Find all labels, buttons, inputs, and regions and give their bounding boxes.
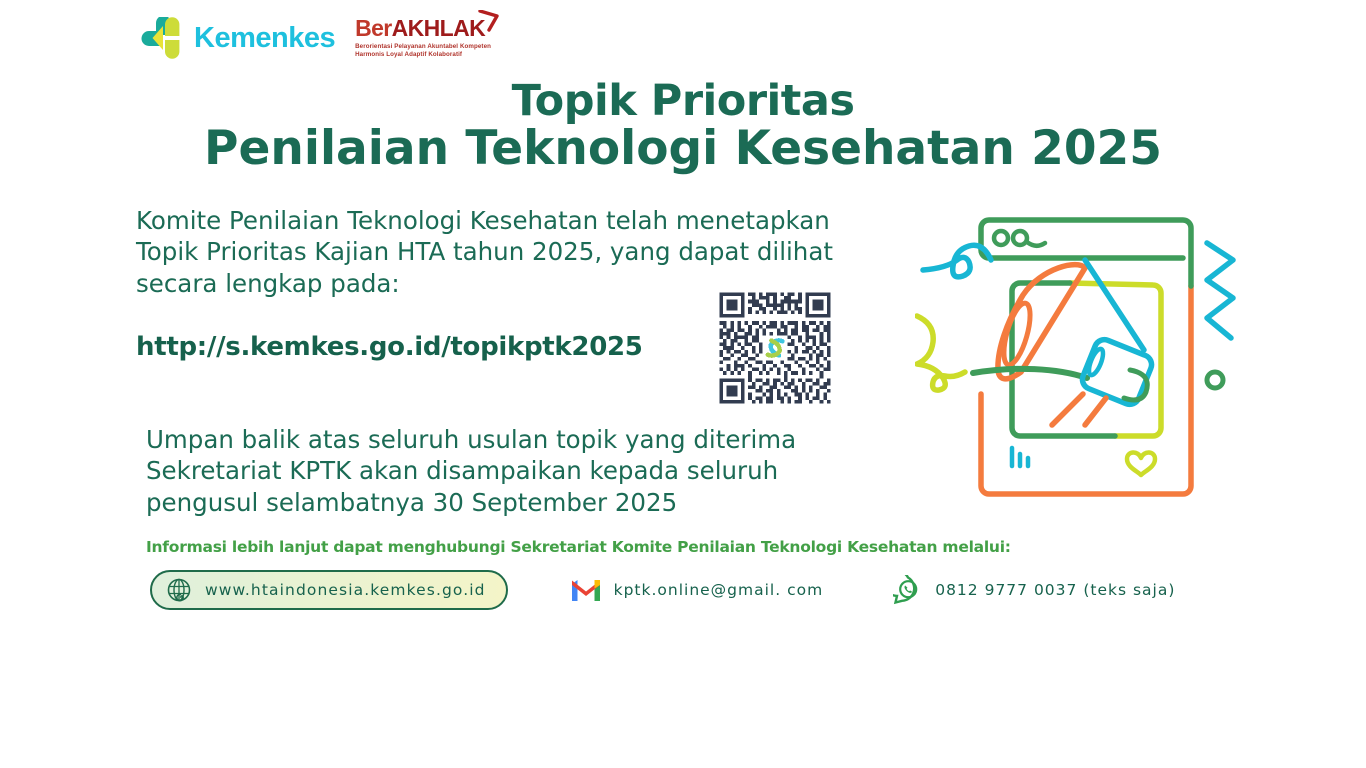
berakhlak-ber-text: Ber xyxy=(355,15,392,41)
email-address-text: kptk.online@gmail. com xyxy=(614,581,824,599)
globe-icon xyxy=(166,577,192,603)
feedback-paragraph: Umpan balik atas seluruh usulan topik ya… xyxy=(146,424,906,518)
page-title-line-2: Penilaian Teknologi Kesehatan 2025 xyxy=(0,124,1366,175)
whatsapp-icon xyxy=(893,575,923,605)
berakhlak-tagline-line1: Berorientasi Pelayanan Akuntabel Kompete… xyxy=(355,43,491,51)
website-url-text: www.htaindonesia.kemkes.go.id xyxy=(205,581,486,599)
page-title: Topik Prioritas Penilaian Teknologi Kese… xyxy=(0,78,1366,175)
berakhlak-wordmark: BerAKHLAK xyxy=(355,17,491,40)
berakhlak-tagline-line2: Harmonis Loyal Adaptif Kolaboratif xyxy=(355,51,491,59)
contact-row: www.htaindonesia.kemkes.go.id kptk.onlin… xyxy=(150,570,1175,610)
website-contact-pill[interactable]: www.htaindonesia.kemkes.go.id xyxy=(150,570,508,610)
megaphone-announcement-illustration xyxy=(915,198,1245,520)
berakhlak-akhlak-text: AKHLAK xyxy=(392,15,486,41)
poster-canvas: { "brand": { "kemenkes_word": "Kemenkes"… xyxy=(0,0,1366,768)
email-contact[interactable]: kptk.online@gmail. com xyxy=(570,577,824,603)
megaphone-illustration-svg xyxy=(915,198,1245,520)
berakhlak-tagline: Berorientasi Pelayanan Akuntabel Kompete… xyxy=(355,43,491,59)
intro-paragraph-line-2: Topik Prioritas Kajian HTA tahun 2025, y… xyxy=(136,236,908,267)
swoosh-icon xyxy=(478,10,500,32)
kemenkes-wordmark: Kemenkes xyxy=(194,24,335,53)
gmail-icon xyxy=(570,577,602,603)
page-title-line-1: Topik Prioritas xyxy=(0,78,1366,124)
feedback-paragraph-line-3: pengusul selambatnya 30 September 2025 xyxy=(146,487,906,518)
contact-intro-text: Informasi lebih lanjut dapat menghubungi… xyxy=(146,538,1011,556)
intro-paragraph: Komite Penilaian Teknologi Kesehatan tel… xyxy=(136,205,908,299)
kemenkes-flower-mark xyxy=(140,17,186,59)
qr-code-image[interactable] xyxy=(711,289,839,407)
brand-logo-bar: Kemenkes BerAKHLAK Berorientasi Pelayana… xyxy=(140,12,491,64)
feedback-paragraph-line-1: Umpan balik atas seluruh usulan topik ya… xyxy=(146,424,906,455)
whatsapp-contact[interactable]: 0812 9777 0037 (teks saja) xyxy=(893,575,1175,605)
feedback-paragraph-line-2: Sekretariat KPTK akan disampaikan kepada… xyxy=(146,455,906,486)
phone-number-text: 0812 9777 0037 (teks saja) xyxy=(935,581,1175,599)
topic-list-url-link[interactable]: http://s.kemkes.go.id/topikptk2025 xyxy=(136,332,643,362)
kemenkes-logo: Kemenkes xyxy=(140,17,335,59)
berakhlak-logo: BerAKHLAK Berorientasi Pelayanan Akuntab… xyxy=(351,17,491,59)
intro-paragraph-line-1: Komite Penilaian Teknologi Kesehatan tel… xyxy=(136,205,908,236)
qr-code-block[interactable] xyxy=(711,289,839,407)
